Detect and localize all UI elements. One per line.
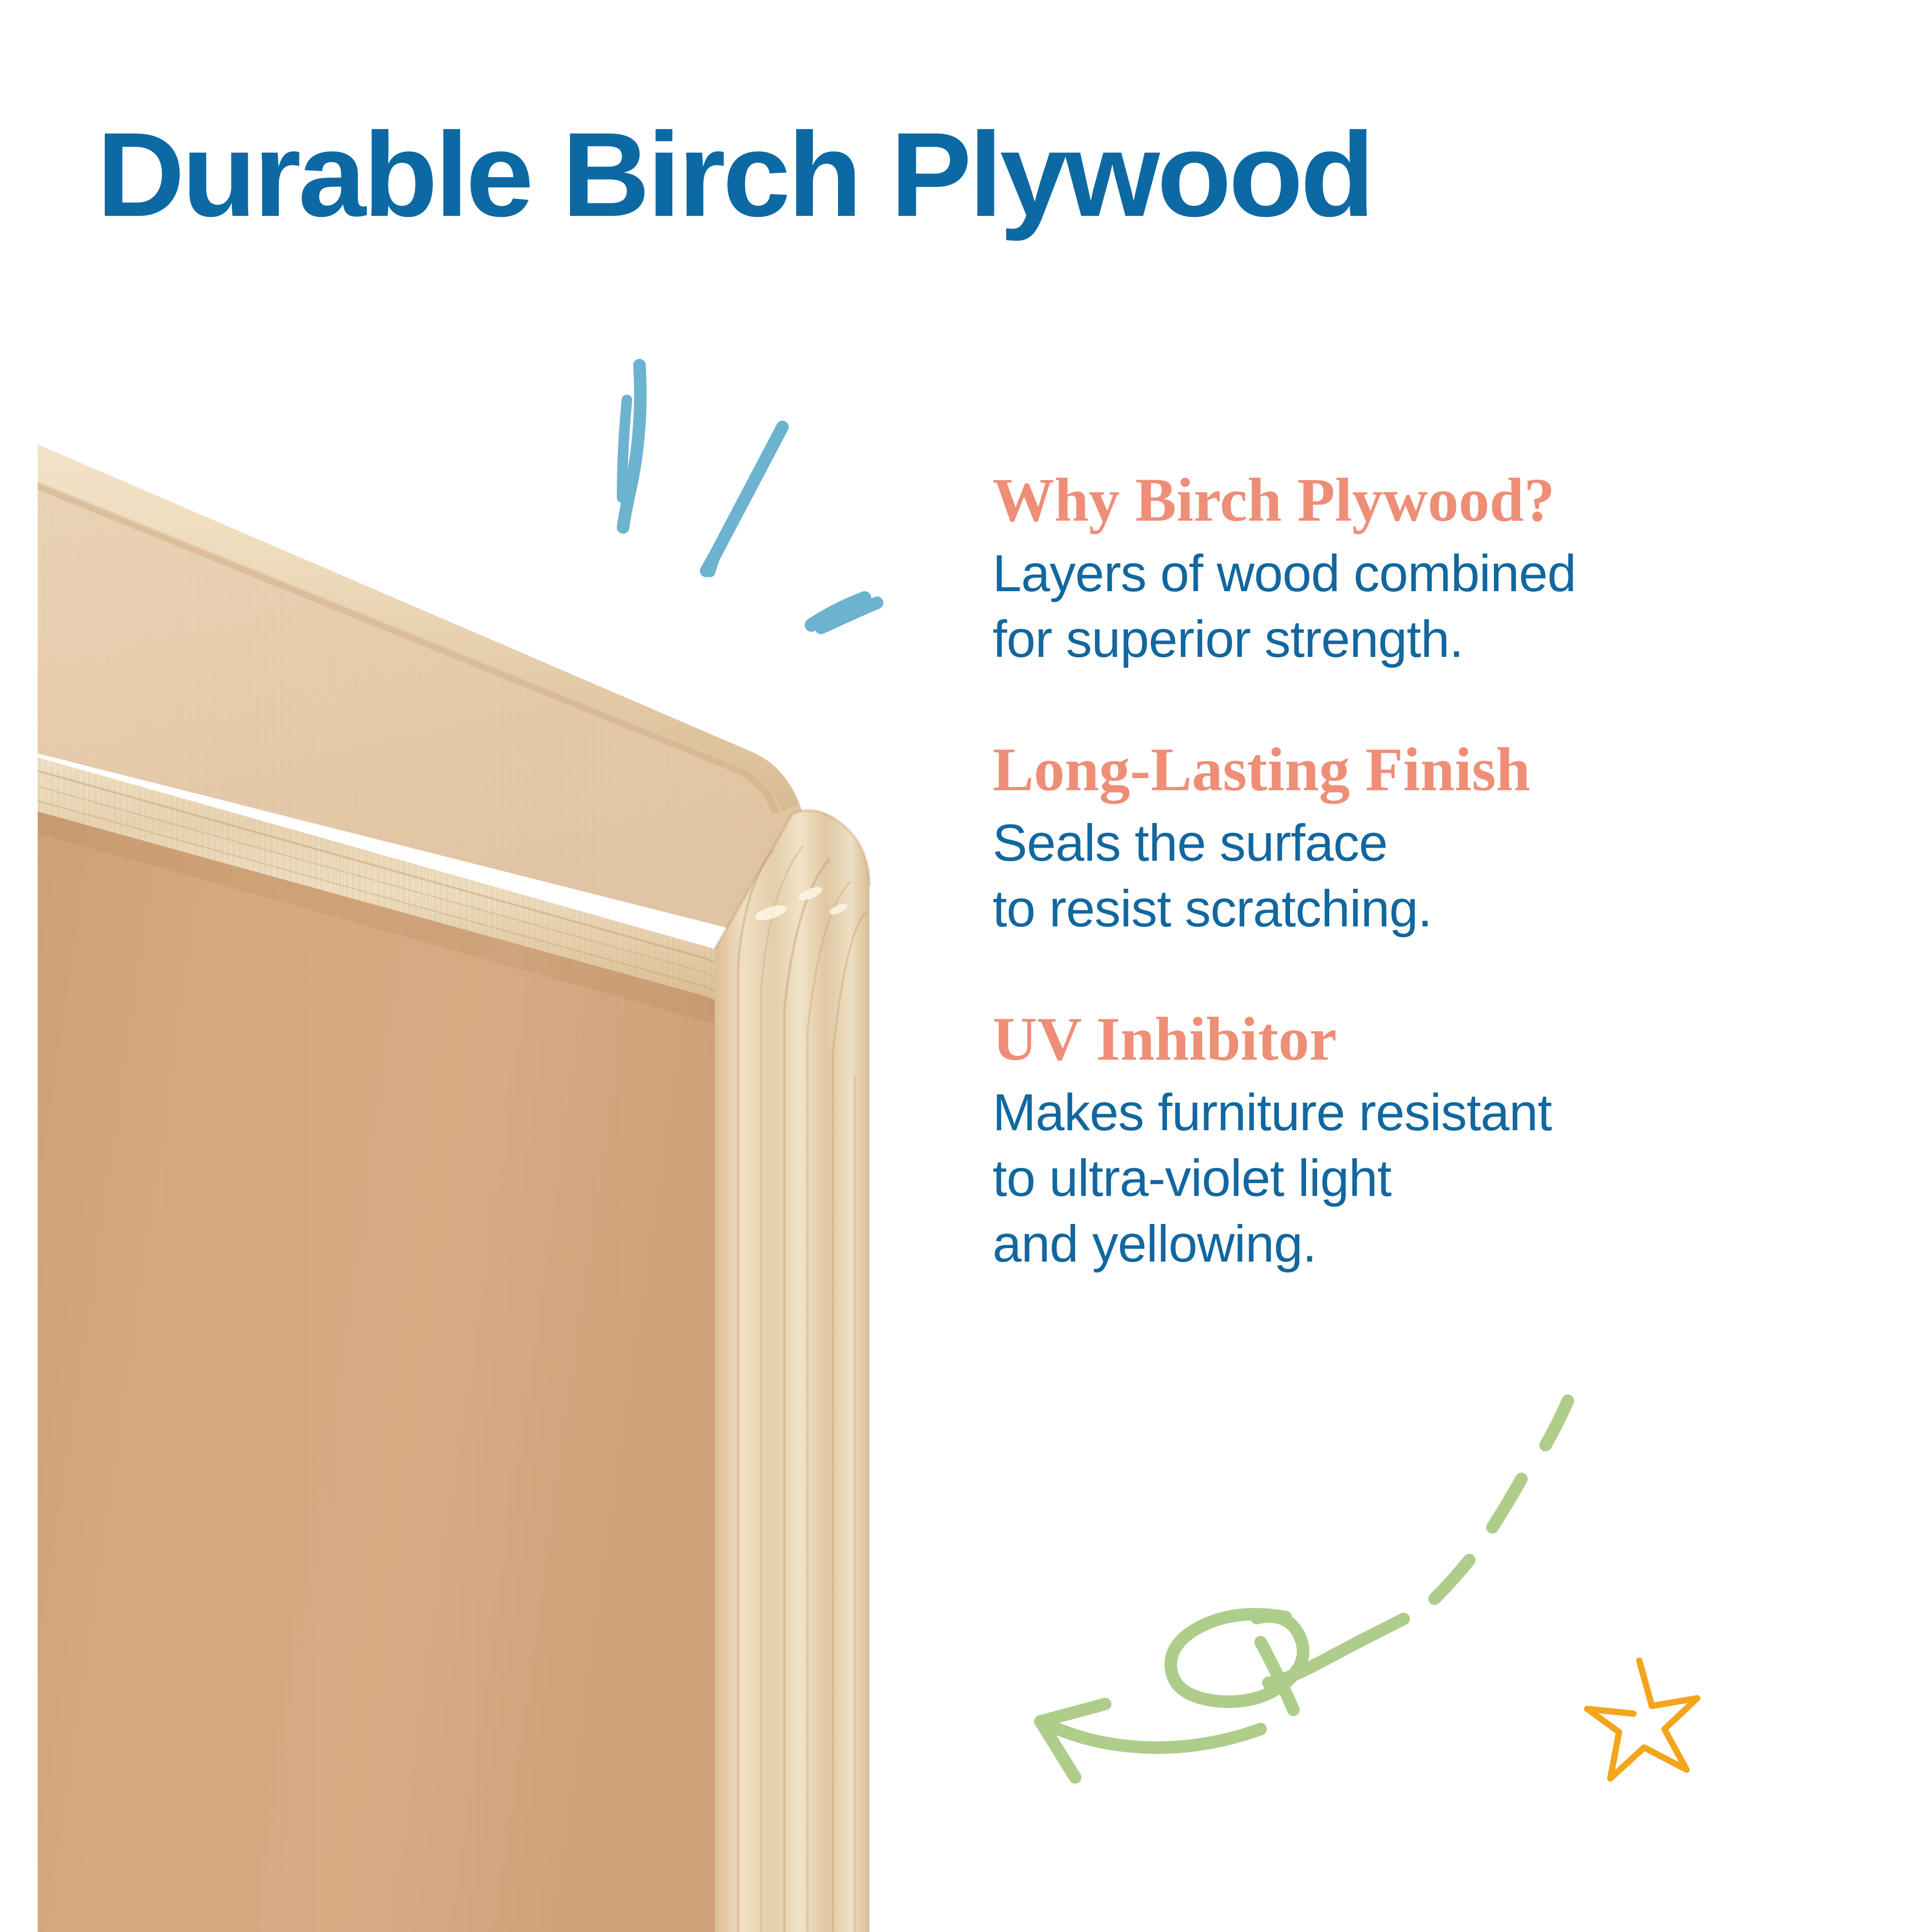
feature-body-line: to ultra-violet light [993,1145,1857,1211]
feature-item-long-lasting-finish: Long-Lasting Finish Seals the surface to… [993,736,1857,941]
infographic-canvas: Durable Birch Plywood [0,0,1932,1932]
feature-item-uv-inhibitor: UV Inhibitor Makes furniture resistant t… [993,1005,1857,1277]
feature-body: Layers of wood combined for superior str… [993,540,1857,672]
feature-body-line: Seals the surface [993,810,1857,876]
feature-body-line: for superior strength. [993,606,1857,672]
feature-item-why-birch-plywood: Why Birch Plywood? Layers of wood combin… [993,466,1857,672]
page-title: Durable Birch Plywood [97,114,1895,235]
feature-body: Seals the surface to resist scratching. [993,810,1857,941]
feature-heading: Long-Lasting Finish [993,736,1857,803]
curved-arrow-icon [990,1391,1628,1748]
feature-heading: UV Inhibitor [993,1005,1857,1073]
feature-body-line: and yellowing. [993,1211,1857,1277]
feature-body-line: Makes furniture resistant [993,1080,1857,1145]
plywood-cabinet-illustration [0,425,908,1932]
feature-heading: Why Birch Plywood? [993,466,1857,534]
feature-body-line: Layers of wood combined [993,540,1857,606]
feature-list: Why Birch Plywood? Layers of wood combin… [993,466,1857,1277]
product-photo [0,425,908,1932]
feature-body: Makes furniture resistant to ultra-viole… [993,1080,1857,1277]
star-icon [1579,1652,1710,1787]
feature-body-line: to resist scratching. [993,876,1857,941]
